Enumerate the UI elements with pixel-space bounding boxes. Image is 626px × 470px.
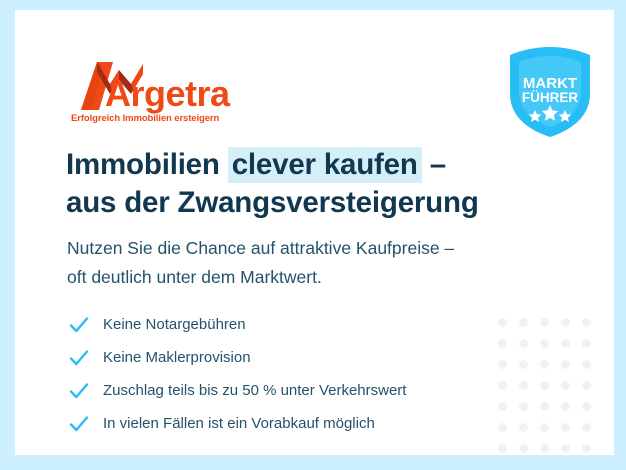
logo-tagline: Erfolgreich Immobilien ersteigern [71,113,220,124]
benefits-list: Keine Notargebühren Keine Maklerprovisio… [68,310,508,442]
content-card: Argetra Erfolgreich Immobilien ersteiger… [15,10,614,455]
ad-banner: Argetra Erfolgreich Immobilien ersteiger… [0,0,626,470]
decorative-dot [519,360,528,369]
subheadline-line-2: oft deutlich unter dem Marktwert. [67,263,537,292]
headline: Immobilien clever kaufen – aus der Zwang… [66,146,546,222]
list-item: Keine Maklerprovision [68,343,508,372]
decorative-dot [519,339,528,348]
decorative-dot [540,339,549,348]
decorative-dot [540,402,549,411]
decorative-dot [561,318,570,327]
decorative-dot [582,339,591,348]
decorative-dot [582,381,591,390]
list-item-label: Keine Notargebühren [103,317,246,332]
headline-prefix: Immobilien [66,148,228,181]
check-icon [68,380,90,402]
decorative-dot [498,444,507,453]
decorative-dot [519,444,528,453]
check-icon [68,413,90,435]
badge-line2: FÜHRER [522,90,578,105]
list-item: Zuschlag teils bis zu 50 % unter Verkehr… [68,376,508,405]
decorative-dot [519,423,528,432]
decorative-dot [540,444,549,453]
decorative-dot [540,381,549,390]
headline-suffix: – [422,148,446,181]
decorative-dot [582,444,591,453]
marktfuehrer-badge: MARKT FÜHRER [502,44,598,140]
subheadline-line-1: Nutzen Sie die Chance auf attraktive Kau… [67,234,537,263]
list-item-label: In vielen Fällen ist ein Vorabkauf mögli… [103,416,375,431]
decorative-dot [540,318,549,327]
argetra-logo: Argetra Erfolgreich Immobilien ersteiger… [69,54,269,126]
decorative-dot [561,360,570,369]
list-item-label: Keine Maklerprovision [103,350,251,365]
headline-line-1: Immobilien clever kaufen – [66,147,446,183]
decorative-dot [561,402,570,411]
decorative-dot [582,318,591,327]
decorative-dot [582,402,591,411]
list-item: Keine Notargebühren [68,310,508,339]
headline-line-2: aus der Zwangsversteigerung [66,186,479,219]
decorative-dot [540,423,549,432]
subheadline: Nutzen Sie die Chance auf attraktive Kau… [67,234,537,292]
check-icon [68,314,90,336]
decorative-dot [561,339,570,348]
decorative-dot [540,360,549,369]
list-item: In vielen Fällen ist ein Vorabkauf mögli… [68,409,508,438]
headline-highlight: clever kaufen [228,147,422,183]
logo-wordmark: Argetra [105,73,231,114]
decorative-dot [582,423,591,432]
decorative-dot [582,360,591,369]
list-item-label: Zuschlag teils bis zu 50 % unter Verkehr… [103,383,406,398]
decorative-dot [561,444,570,453]
decorative-dot [561,381,570,390]
decorative-dot [519,381,528,390]
decorative-dot [561,423,570,432]
decorative-dot [519,402,528,411]
decorative-dot [519,318,528,327]
check-icon [68,347,90,369]
